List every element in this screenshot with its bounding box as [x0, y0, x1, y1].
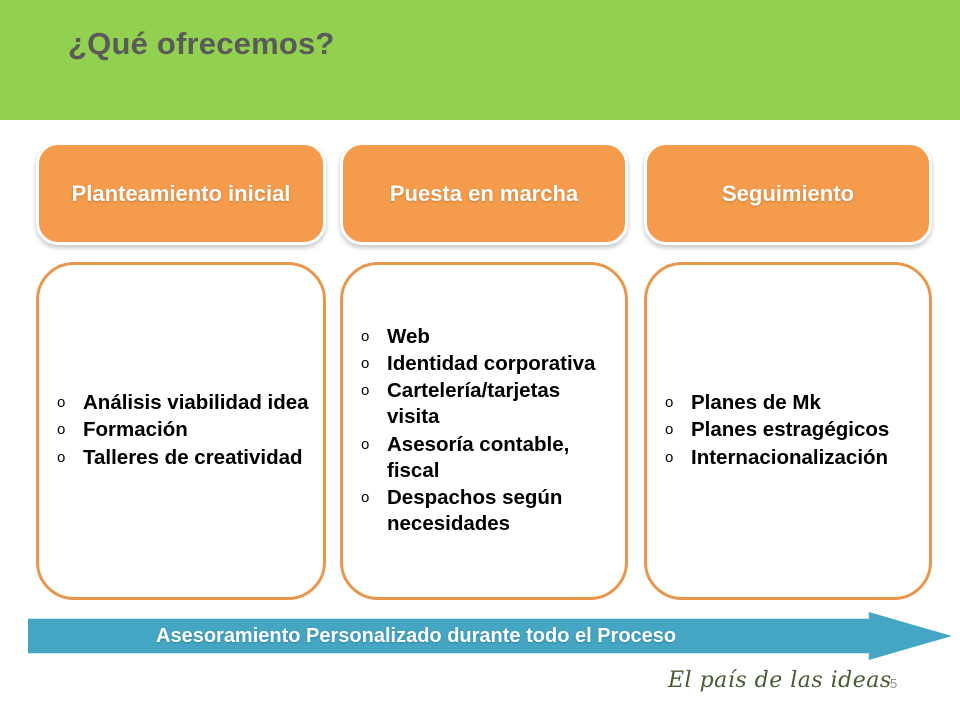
circle-bullet-icon: o: [57, 417, 83, 443]
process-header-box-2[interactable]: Puesta en marcha: [340, 142, 628, 245]
circle-bullet-icon: o: [361, 351, 387, 377]
process-header-box-3[interactable]: Seguimiento: [644, 142, 932, 245]
process-content-box-3[interactable]: o Planes de Mk o Planes estragégicos o I…: [644, 262, 932, 600]
process-content-box-1[interactable]: o Análisis viabilidad idea o Formación o…: [36, 262, 326, 600]
process-arrow-banner[interactable]: Asesoramiento Personalizado durante todo…: [28, 612, 952, 660]
list-item-label: Formación: [83, 417, 313, 443]
list-item-label: Planes de Mk: [691, 390, 919, 416]
circle-bullet-icon: o: [665, 390, 691, 416]
list-item: o Formación: [57, 417, 313, 443]
list-item-label: Asesoría contable, fiscal: [387, 432, 615, 484]
footer-logo: El país de las ideas: [668, 668, 892, 693]
list-item-label: Despachos según necesidades: [387, 485, 615, 537]
list-item: o Asesoría contable, fiscal: [361, 432, 615, 484]
circle-bullet-icon: o: [57, 445, 83, 471]
circle-bullet-icon: o: [361, 485, 387, 511]
list-item-label: Cartelería/tarjetas visita: [387, 378, 615, 430]
process-header-label: Seguimiento: [714, 181, 862, 206]
process-content-row: o Análisis viabilidad idea o Formación o…: [0, 262, 960, 602]
list-item-label: Análisis viabilidad idea: [83, 390, 313, 416]
process-content-box-2[interactable]: o Web o Identidad corporativa o Carteler…: [340, 262, 628, 600]
list-item-label: Web: [387, 324, 615, 350]
list-item: o Planes de Mk: [665, 390, 919, 416]
list-item-label: Internacionalización: [691, 445, 919, 471]
bullet-list-1: o Análisis viabilidad idea o Formación o…: [39, 390, 323, 472]
circle-bullet-icon: o: [665, 445, 691, 471]
list-item-label: Planes estragégicos: [691, 417, 919, 443]
list-item-label: Talleres de creatividad: [83, 445, 313, 471]
list-item-label: Identidad corporativa: [387, 351, 615, 377]
circle-bullet-icon: o: [361, 324, 387, 350]
page-number: 5: [890, 676, 897, 691]
page-title: ¿Qué ofrecemos?: [68, 26, 335, 62]
process-header-box-1[interactable]: Planteamiento inicial: [36, 142, 326, 245]
arrow-banner-label: Asesoramiento Personalizado durante todo…: [28, 612, 804, 660]
list-item: o Talleres de creatividad: [57, 445, 313, 471]
list-item: o Cartelería/tarjetas visita: [361, 378, 615, 430]
circle-bullet-icon: o: [665, 417, 691, 443]
title-banner: ¿Qué ofrecemos?: [0, 0, 960, 120]
bullet-list-2: o Web o Identidad corporativa o Carteler…: [343, 324, 625, 539]
bullet-list-3: o Planes de Mk o Planes estragégicos o I…: [647, 390, 929, 472]
process-header-label: Puesta en marcha: [382, 181, 586, 206]
circle-bullet-icon: o: [57, 390, 83, 416]
process-header-label: Planteamiento inicial: [64, 181, 299, 206]
list-item: o Planes estragégicos: [665, 417, 919, 443]
process-header-row: Planteamiento inicial Puesta en marcha S…: [0, 142, 960, 248]
list-item: o Despachos según necesidades: [361, 485, 615, 537]
list-item: o Internacionalización: [665, 445, 919, 471]
list-item: o Identidad corporativa: [361, 351, 615, 377]
list-item: o Web: [361, 324, 615, 350]
circle-bullet-icon: o: [361, 378, 387, 404]
circle-bullet-icon: o: [361, 432, 387, 458]
list-item: o Análisis viabilidad idea: [57, 390, 313, 416]
